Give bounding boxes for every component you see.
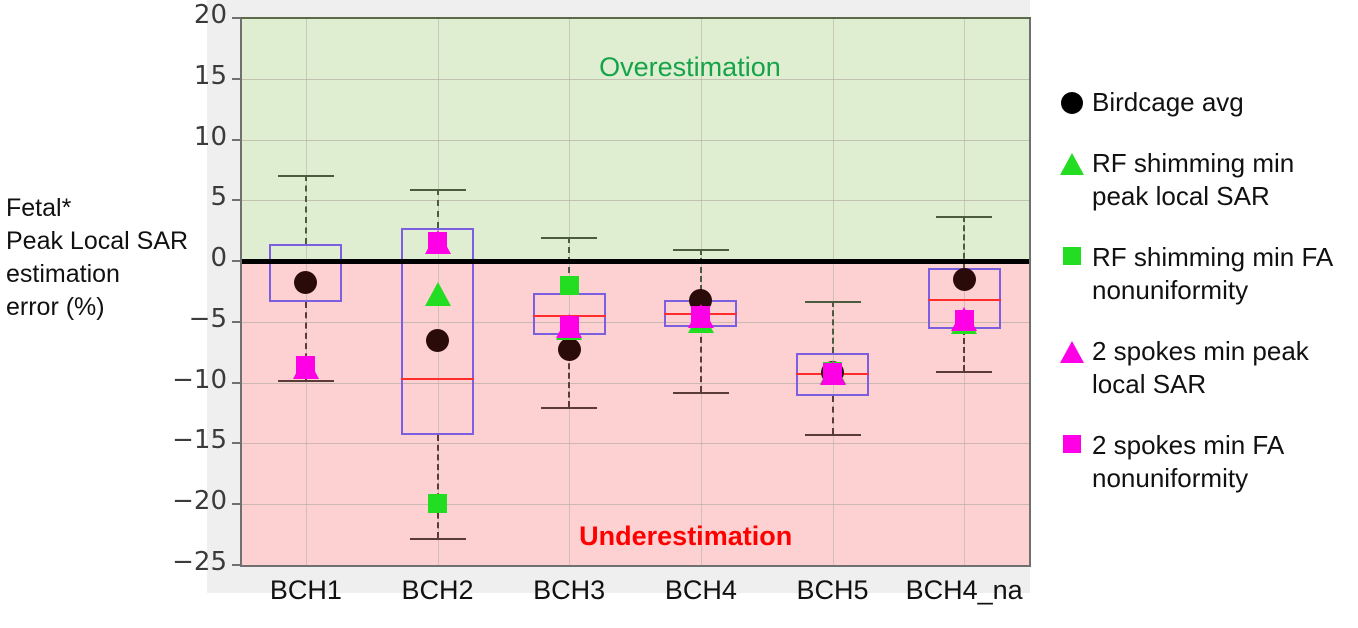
data-marker: [296, 356, 315, 375]
legend-circle-icon: [1052, 86, 1092, 114]
whisker-cap-lower: [278, 380, 334, 382]
data-marker: [691, 306, 710, 325]
x-tick-label-BCH1: BCH1: [236, 575, 376, 606]
data-marker: [428, 494, 447, 513]
y-tick-label: 0: [167, 243, 227, 273]
y-tick-label: −20: [167, 486, 227, 516]
y-tick-label: 20: [167, 0, 227, 30]
whisker-cap-lower: [936, 371, 992, 373]
x-tick-label-BCH5: BCH5: [763, 575, 903, 606]
whisker-cap-lower: [410, 538, 466, 540]
median-line-BCH4_na: [928, 299, 1001, 301]
y-tick-mark: [232, 78, 241, 80]
whisker-lower: [832, 396, 834, 434]
median-line-BCH2: [401, 378, 474, 380]
legend-marker-glyph: [1063, 435, 1081, 453]
x-axis-line: [240, 565, 1031, 567]
whisker-cap-upper: [541, 237, 597, 239]
gridline-vertical: [833, 18, 834, 565]
legend-item-label: RF shimming min FA nonuniformity: [1092, 241, 1352, 307]
whisker-cap-upper: [805, 301, 861, 303]
gridline-horizontal: [240, 504, 1030, 505]
overestimation-label: Overestimation: [599, 52, 781, 83]
plot-right-spine: [1029, 18, 1031, 566]
whisker-upper: [437, 189, 439, 228]
y-tick-mark: [232, 199, 241, 201]
legend-square-icon: [1052, 241, 1092, 265]
plot-area: Overestimation Underestimation: [240, 18, 1030, 565]
y-tick-label: 10: [167, 122, 227, 152]
y-axis-line: [240, 18, 242, 566]
x-tick-label-BCH4_na: BCH4_na: [894, 575, 1034, 606]
x-tick-label-BCH3: BCH3: [499, 575, 639, 606]
whisker-cap-upper: [673, 249, 729, 251]
whisker-cap-lower: [673, 392, 729, 394]
legend-marker-glyph: [1063, 247, 1081, 265]
gridline-horizontal: [240, 200, 1030, 201]
y-tick-label: −5: [167, 304, 227, 334]
legend-item-3[interactable]: 2 spokes min peak local SAR: [1052, 335, 1352, 401]
whisker-cap-upper: [278, 175, 334, 177]
data-marker: [558, 338, 581, 361]
legend-item-label: RF shimming min peak local SAR: [1092, 147, 1352, 213]
whisker-cap-lower: [805, 434, 861, 436]
whisker-lower: [437, 435, 439, 538]
whisker-cap-upper: [410, 189, 466, 191]
whisker-lower: [963, 329, 965, 370]
y-tick-mark: [232, 139, 241, 141]
legend-item-4[interactable]: 2 spokes min FA nonuniformity: [1052, 429, 1352, 495]
y-tick-mark: [232, 17, 241, 19]
y-tick-mark: [232, 442, 241, 444]
figure-root: Fetal* Peak Local SAR estimation error (…: [0, 0, 1358, 628]
y-tick-label: −15: [167, 425, 227, 455]
gridline-horizontal: [240, 140, 1030, 141]
zero-reference-line: [240, 259, 1030, 264]
data-marker: [428, 232, 447, 251]
gridline-horizontal: [240, 322, 1030, 323]
plot-top-spine: [240, 17, 1031, 19]
legend-item-label: Birdcage avg: [1092, 86, 1244, 119]
data-marker: [425, 282, 451, 306]
legend: Birdcage avgRF shimming min peak local S…: [1052, 86, 1352, 523]
whisker-lower: [700, 327, 702, 393]
legend-item-1[interactable]: RF shimming min peak local SAR: [1052, 147, 1352, 213]
y-tick-mark: [232, 503, 241, 505]
y-tick-mark: [232, 382, 241, 384]
whisker-cap-lower: [541, 407, 597, 409]
data-marker: [955, 310, 974, 329]
legend-marker-glyph: [1060, 341, 1084, 363]
data-marker: [426, 329, 449, 352]
underestimation-band: [240, 262, 1030, 565]
gridline-horizontal: [240, 383, 1030, 384]
whisker-upper: [305, 175, 307, 244]
data-marker: [823, 363, 842, 382]
x-tick-label-BCH4: BCH4: [631, 575, 771, 606]
legend-item-0[interactable]: Birdcage avg: [1052, 86, 1352, 119]
legend-marker-glyph: [1060, 153, 1084, 175]
legend-item-label: 2 spokes min peak local SAR: [1092, 335, 1352, 401]
y-tick-mark: [232, 260, 241, 262]
data-marker: [560, 316, 579, 335]
y-tick-label: −10: [167, 365, 227, 395]
data-marker: [560, 276, 579, 295]
data-marker: [953, 268, 976, 291]
x-tick-label-BCH2: BCH2: [368, 575, 508, 606]
legend-item-label: 2 spokes min FA nonuniformity: [1092, 429, 1352, 495]
legend-item-2[interactable]: RF shimming min FA nonuniformity: [1052, 241, 1352, 307]
y-tick-label: −25: [167, 547, 227, 577]
y-tick-label: 5: [167, 182, 227, 212]
underestimation-label: Underestimation: [579, 521, 792, 552]
whisker-upper: [832, 301, 834, 353]
legend-square-icon: [1052, 429, 1092, 453]
whisker-cap-upper: [936, 216, 992, 218]
y-tick-label: 15: [167, 61, 227, 91]
legend-triangle-icon: [1052, 335, 1092, 363]
legend-triangle-icon: [1052, 147, 1092, 175]
y-tick-mark: [232, 564, 241, 566]
gridline-horizontal: [240, 443, 1030, 444]
legend-marker-glyph: [1061, 92, 1083, 114]
y-tick-mark: [232, 321, 241, 323]
